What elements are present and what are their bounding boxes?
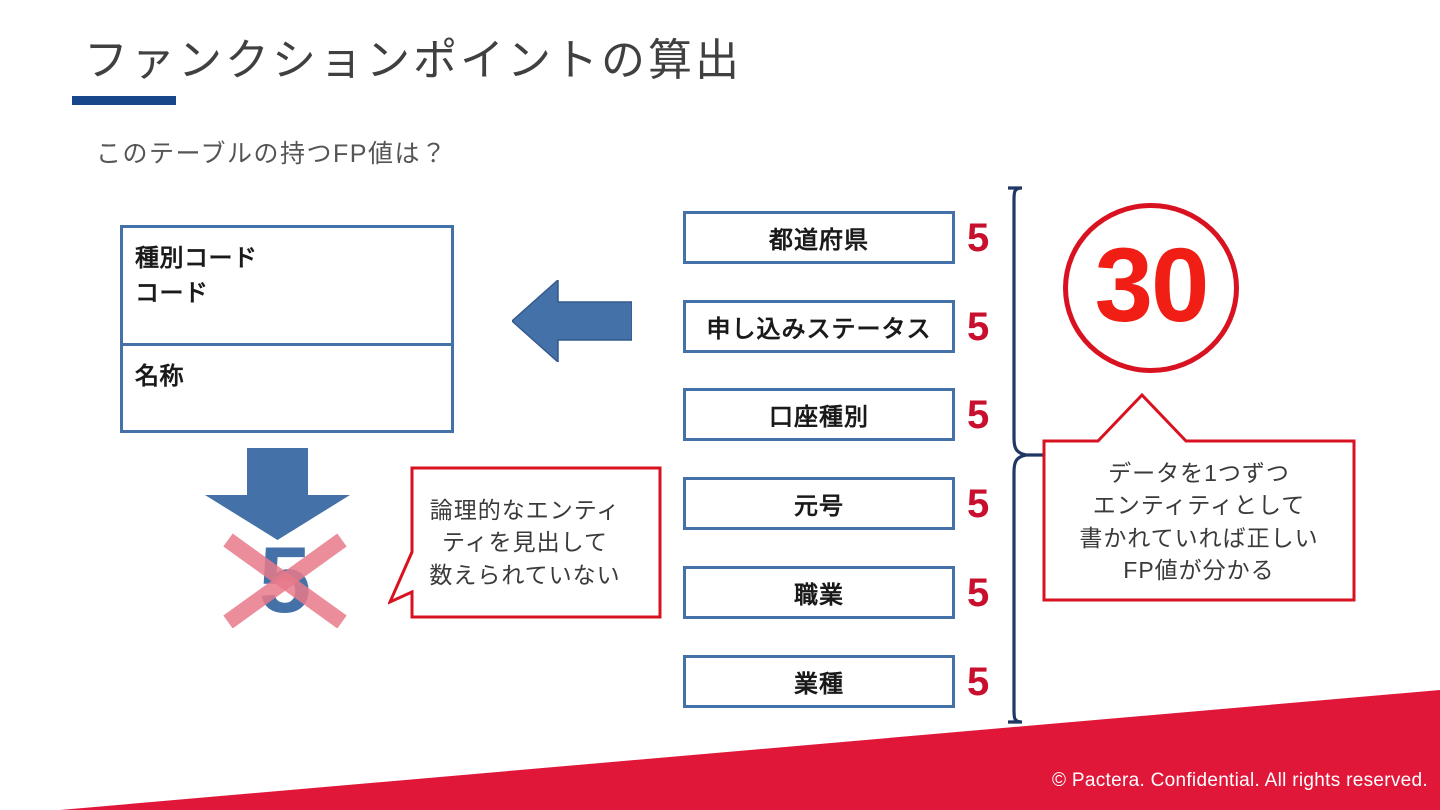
callout-left-text: 論理的なエンティ ティを見出して 数えられていない	[388, 466, 662, 619]
table-row: 種別コード コード	[123, 228, 451, 346]
callout-right: データを1つずつ エンティティとして 書かれていれば正しい FP値が分かる	[1042, 393, 1356, 602]
strikethrough-x-icon	[222, 532, 348, 628]
fp-entity-box: 元号	[683, 477, 955, 530]
footer-copyright: © Pactera. Confidential. All rights rese…	[1052, 770, 1428, 792]
total-fp-number: 30	[1095, 233, 1208, 338]
callout-line: ティを見出して	[442, 526, 608, 559]
table-cell-line: コード	[135, 277, 451, 312]
fp-entity-box: 申し込みステータス	[683, 300, 955, 353]
left-arrow-icon	[512, 280, 632, 362]
page-title: ファンクションポイントの算出	[84, 36, 742, 87]
group-brace-icon	[1000, 186, 1048, 724]
title-underline-rule	[72, 96, 176, 105]
fp-entity-box: 都道府県	[683, 211, 955, 264]
callout-line: 数えられていない	[429, 559, 620, 592]
callout-left: 論理的なエンティ ティを見出して 数えられていない	[388, 466, 662, 619]
fp-entity-box: 業種	[683, 655, 955, 708]
total-fp-circle: 30	[1063, 203, 1239, 373]
callout-line: 論理的なエンティ	[430, 494, 621, 527]
callout-line: エンティティとして	[1093, 489, 1306, 521]
callout-right-text: データを1つずつ エンティティとして 書かれていれば正しい FP値が分かる	[1042, 441, 1356, 602]
table-row: 名称	[123, 346, 451, 430]
table-cell-line: 名称	[135, 360, 451, 395]
callout-line: データを1つずつ	[1108, 457, 1290, 489]
callout-line: FP値が分かる	[1123, 554, 1274, 586]
slide-canvas: ファンクションポイントの算出 このテーブルの持つFP値は？ 種別コード コード …	[0, 0, 1440, 810]
fp-entity-box: 職業	[683, 566, 955, 619]
footer-decorative-band	[0, 690, 1440, 810]
fp-entity-box: 口座種別	[683, 388, 955, 441]
page-subtitle: このテーブルの持つFP値は？	[96, 134, 447, 170]
sample-table: 種別コード コード 名称	[120, 225, 454, 433]
table-cell-line: 種別コード	[135, 242, 451, 277]
incorrect-fp-value: 5	[222, 532, 348, 628]
callout-line: 書かれていれば正しい	[1079, 522, 1318, 554]
